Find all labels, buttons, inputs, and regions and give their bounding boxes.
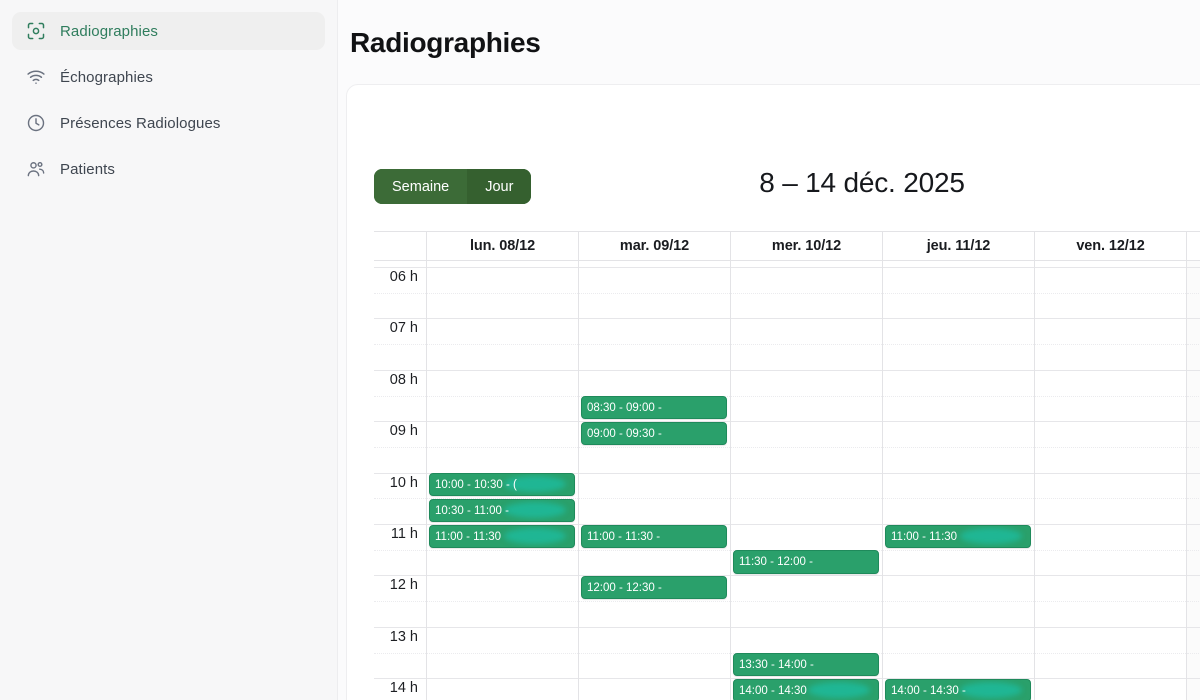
grid-line: [1187, 396, 1200, 397]
redaction-blur: [960, 528, 1022, 544]
grid-line: [731, 267, 882, 268]
grid-line: [1187, 267, 1200, 268]
grid-line: [1035, 473, 1186, 474]
app-root: Radiographies Échographies Présences: [0, 0, 1200, 700]
event-label: 14:00 - 14:30 -: [891, 685, 966, 697]
grid-line: [374, 473, 426, 474]
day-column-mar[interactable]: 08:30 - 09:00 -09:00 - 09:30 -11:00 - 11…: [579, 261, 731, 700]
grid-line: [579, 318, 730, 319]
grid-line: [731, 447, 882, 448]
calendar-body: 06 h07 h08 h09 h10 h11 h12 h13 h14 h 10:…: [374, 261, 1200, 700]
grid-line: [374, 524, 426, 525]
grid-line: [731, 601, 882, 602]
grid-line: [731, 575, 882, 576]
sidebar-item-label: Présences Radiologues: [60, 115, 221, 132]
grid-line: [883, 370, 1034, 371]
hour-label: 07 h: [390, 320, 418, 336]
grid-line: [883, 575, 1034, 576]
grid-line: [427, 293, 578, 294]
sidebar: Radiographies Échographies Présences: [0, 0, 338, 700]
grid-line: [731, 473, 882, 474]
grid-line: [1187, 678, 1200, 679]
grid-line: [883, 293, 1034, 294]
grid-line: [731, 524, 882, 525]
grid-line: [374, 653, 426, 654]
grid-line: [579, 344, 730, 345]
grid-line: [1035, 318, 1186, 319]
event-label: 11:00 - 11:30 -: [587, 531, 660, 543]
day-column-mer[interactable]: 11:30 - 12:00 -13:30 - 14:00 -14:00 - 14…: [731, 261, 883, 700]
grid-line: [427, 447, 578, 448]
grid-line: [427, 421, 578, 422]
grid-line: [374, 447, 426, 448]
calendar-event[interactable]: 11:30 - 12:00 -: [733, 550, 879, 573]
day-header[interactable]: lun. 08/12: [427, 232, 579, 260]
day-column-ven[interactable]: [1035, 261, 1187, 700]
event-label: 11:30 - 12:00 -: [739, 556, 813, 568]
grid-line: [1035, 293, 1186, 294]
users-icon: [26, 159, 46, 179]
calendar-card: Semaine Jour 8 – 14 déc. 2025 lun. 08/12…: [346, 84, 1200, 700]
grid-line: [1035, 601, 1186, 602]
grid-line: [883, 318, 1034, 319]
grid-line: [374, 498, 426, 499]
grid-line: [374, 267, 426, 268]
grid-line: [883, 550, 1034, 551]
grid-line: [883, 473, 1034, 474]
event-label: 13:30 - 14:00 -: [739, 659, 814, 671]
redaction-blur: [504, 502, 566, 518]
grid-line: [731, 627, 882, 628]
grid-line: [579, 370, 730, 371]
sidebar-item-echographies[interactable]: Échographies: [12, 58, 325, 96]
hour-label: 09 h: [390, 423, 418, 439]
sidebar-item-label: Échographies: [60, 69, 153, 86]
day-header[interactable]: jeu. 11/12: [883, 232, 1035, 260]
calendar-event[interactable]: 10:30 - 11:00 -: [429, 499, 575, 522]
calendar-event[interactable]: 12:00 - 12:30 -: [581, 576, 727, 599]
hour-label: 12 h: [390, 577, 418, 593]
hour-label: 11 h: [391, 526, 418, 542]
grid-line: [427, 370, 578, 371]
calendar-event[interactable]: 08:30 - 09:00 -: [581, 396, 727, 419]
grid-line: [374, 678, 426, 679]
grid-line: [1187, 550, 1200, 551]
calendar-event[interactable]: 11:00 - 11:30 -: [581, 525, 727, 548]
grid-line: [731, 421, 882, 422]
grid-line: [427, 601, 578, 602]
grid-line: [1187, 524, 1200, 525]
grid-line: [1035, 267, 1186, 268]
grid-line: [374, 627, 426, 628]
redaction-blur: [808, 682, 870, 698]
grid-line: [1187, 653, 1200, 654]
grid-line: [374, 550, 426, 551]
calendar-day-header-row: lun. 08/12 mar. 09/12 mer. 10/12 jeu. 11…: [374, 231, 1200, 261]
grid-line: [579, 601, 730, 602]
grid-line: [1035, 627, 1186, 628]
ultrasound-wave-icon: [26, 67, 46, 87]
grid-line: [579, 267, 730, 268]
grid-line: [374, 575, 426, 576]
grid-line: [883, 653, 1034, 654]
grid-line: [374, 421, 426, 422]
page-title: Radiographies: [348, 0, 1200, 62]
calendar-event[interactable]: 11:00 - 11:30: [885, 525, 1031, 548]
grid-line: [1035, 396, 1186, 397]
grid-line: [883, 421, 1034, 422]
event-label: 09:00 - 09:30 -: [587, 428, 662, 440]
grid-line: [731, 318, 882, 319]
scan-focus-icon: [26, 21, 46, 41]
grid-line: [579, 550, 730, 551]
grid-line: [579, 678, 730, 679]
grid-line: [374, 601, 426, 602]
grid-line: [1187, 370, 1200, 371]
calendar-event[interactable]: 09:00 - 09:30 -: [581, 422, 727, 445]
hour-label: 08 h: [390, 372, 418, 388]
day-header[interactable]: mer. 10/12: [731, 232, 883, 260]
main-content: Radiographies Semaine Jour 8 – 14 déc. 2…: [338, 0, 1200, 700]
grid-line: [1035, 524, 1186, 525]
grid-line: [731, 396, 882, 397]
grid-line: [1187, 344, 1200, 345]
day-column-jeu[interactable]: 11:00 - 11:3014:00 - 14:30 -: [883, 261, 1035, 700]
grid-line: [1035, 344, 1186, 345]
day-column-overflow: [1187, 261, 1200, 700]
event-label: 10:30 - 11:00 -: [435, 505, 509, 517]
sidebar-item-label: Patients: [60, 161, 115, 178]
grid-line: [1187, 447, 1200, 448]
grid-line: [427, 575, 578, 576]
clock-icon: [26, 113, 46, 133]
grid-line: [1187, 293, 1200, 294]
grid-line: [374, 344, 426, 345]
calendar-event[interactable]: 13:30 - 14:00 -: [733, 653, 879, 676]
grid-line: [1187, 318, 1200, 319]
grid-line: [1187, 601, 1200, 602]
event-label: 11:00 - 11:30: [435, 531, 501, 543]
grid-line: [427, 318, 578, 319]
grid-line: [883, 267, 1034, 268]
grid-line: [883, 447, 1034, 448]
grid-line: [579, 447, 730, 448]
grid-line: [427, 344, 578, 345]
calendar-toolbar: Semaine Jour 8 – 14 déc. 2025: [347, 85, 1200, 185]
grid-line: [1035, 447, 1186, 448]
grid-line: [427, 550, 578, 551]
calendar-event[interactable]: 14:00 - 14:30: [733, 679, 879, 700]
grid-line: [731, 370, 882, 371]
calendar-event[interactable]: 10:00 - 10:30 - (: [429, 473, 575, 496]
grid-line: [883, 498, 1034, 499]
time-gutter-header: [374, 232, 427, 260]
hour-label: 06 h: [390, 269, 418, 285]
grid-line: [1035, 370, 1186, 371]
grid-line: [1187, 627, 1200, 628]
grid-line: [883, 344, 1034, 345]
hour-label: 10 h: [390, 475, 418, 491]
grid-line: [883, 601, 1034, 602]
calendar-event[interactable]: 14:00 - 14:30 -: [885, 679, 1031, 700]
grid-line: [374, 293, 426, 294]
grid-line: [427, 267, 578, 268]
event-label: 12:00 - 12:30 -: [587, 582, 662, 594]
grid-line: [427, 627, 578, 628]
time-axis: 06 h07 h08 h09 h10 h11 h12 h13 h14 h: [374, 261, 427, 700]
grid-line: [1187, 473, 1200, 474]
grid-line: [731, 293, 882, 294]
grid-line: [1187, 421, 1200, 422]
sidebar-item-patients[interactable]: Patients: [12, 150, 325, 188]
calendar-event[interactable]: 11:00 - 11:30: [429, 525, 575, 548]
sidebar-item-radiographies[interactable]: Radiographies: [12, 12, 325, 50]
grid-line: [579, 293, 730, 294]
grid-line: [1035, 550, 1186, 551]
hour-label: 14 h: [390, 680, 418, 696]
calendar-grid: lun. 08/12 mar. 09/12 mer. 10/12 jeu. 11…: [374, 231, 1200, 700]
grid-line: [731, 498, 882, 499]
event-label: 08:30 - 09:00 -: [587, 402, 662, 414]
grid-line: [579, 498, 730, 499]
event-label: 14:00 - 14:30: [739, 685, 807, 697]
day-header-overflow: [1187, 232, 1200, 260]
grid-line: [427, 653, 578, 654]
day-column-lun[interactable]: 10:00 - 10:30 - (10:30 - 11:00 -11:00 - …: [427, 261, 579, 700]
sidebar-item-label: Radiographies: [60, 23, 158, 40]
grid-line: [579, 627, 730, 628]
day-header[interactable]: ven. 12/12: [1035, 232, 1187, 260]
grid-line: [731, 344, 882, 345]
grid-line: [1035, 498, 1186, 499]
grid-line: [1035, 421, 1186, 422]
grid-line: [1035, 653, 1186, 654]
redaction-blur: [504, 528, 566, 544]
grid-line: [883, 396, 1034, 397]
grid-line: [427, 396, 578, 397]
grid-line: [579, 473, 730, 474]
sidebar-item-presences-radiologues[interactable]: Présences Radiologues: [12, 104, 325, 142]
date-range-title: 8 – 14 déc. 2025: [346, 167, 1200, 199]
grid-line: [1035, 575, 1186, 576]
grid-line: [374, 370, 426, 371]
hour-label: 13 h: [390, 629, 418, 645]
grid-line: [579, 653, 730, 654]
grid-line: [883, 627, 1034, 628]
grid-line: [374, 318, 426, 319]
grid-line: [1187, 575, 1200, 576]
grid-line: [427, 678, 578, 679]
redaction-blur: [960, 682, 1022, 698]
grid-line: [1187, 498, 1200, 499]
event-label: 11:00 - 11:30: [891, 531, 957, 543]
event-label: 10:00 - 10:30 - (: [435, 479, 517, 491]
day-header[interactable]: mar. 09/12: [579, 232, 731, 260]
grid-line: [374, 396, 426, 397]
grid-line: [1035, 678, 1186, 679]
